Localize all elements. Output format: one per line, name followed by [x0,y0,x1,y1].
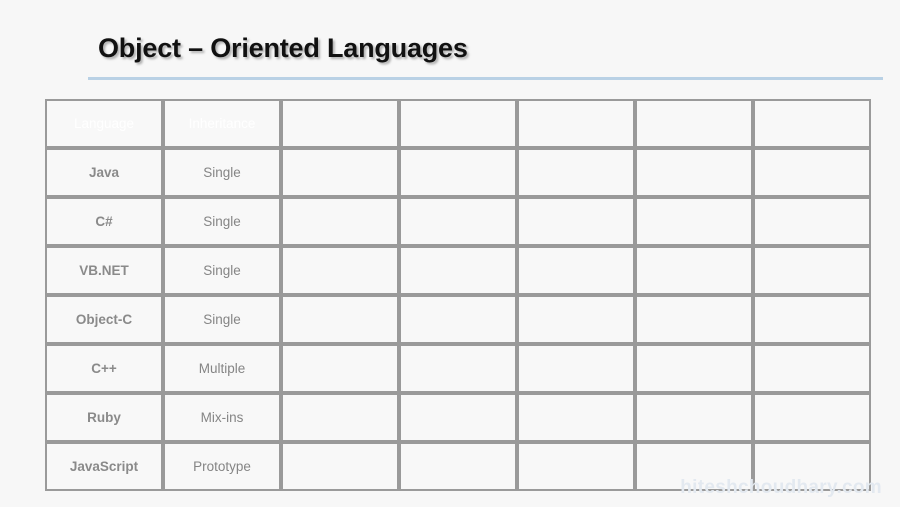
cell-empty-4 [399,344,517,393]
cell-empty-5 [517,148,635,197]
cell-empty-5 [517,295,635,344]
cell-empty-4 [399,148,517,197]
column-header-language: Language [45,99,163,148]
cell-language: Ruby [45,393,163,442]
cell-inheritance: Single [163,197,281,246]
column-header-empty-6 [635,99,753,148]
cell-empty-5 [517,393,635,442]
cell-empty-6 [635,246,753,295]
cell-empty-4 [399,442,517,491]
table-row: Ruby Mix-ins [45,393,871,442]
cell-empty-7 [753,246,871,295]
cell-empty-7 [753,148,871,197]
cell-empty-3 [281,393,399,442]
table-header-row: Language Inheritance [45,99,871,148]
cell-empty-3 [281,344,399,393]
cell-empty-6 [635,197,753,246]
cell-empty-7 [753,393,871,442]
cell-inheritance: Mix-ins [163,393,281,442]
cell-inheritance: Single [163,148,281,197]
site-watermark: hiteshchoudhary.com [680,477,882,499]
cell-empty-6 [635,344,753,393]
cell-language: Object-C [45,295,163,344]
column-header-empty-5 [517,99,635,148]
cell-empty-7 [753,295,871,344]
cell-empty-6 [635,148,753,197]
cell-language: C# [45,197,163,246]
cell-language: JavaScript [45,442,163,491]
cell-language: Java [45,148,163,197]
oop-languages-table: Language Inheritance Java Single [45,99,871,491]
cell-empty-5 [517,442,635,491]
oop-languages-table-container: Language Inheritance Java Single [45,99,870,465]
cell-empty-4 [399,246,517,295]
cell-empty-7 [753,197,871,246]
cell-empty-3 [281,148,399,197]
cell-inheritance: Single [163,246,281,295]
cell-language: VB.NET [45,246,163,295]
cell-language: C++ [45,344,163,393]
cell-empty-4 [399,295,517,344]
table-row: C++ Multiple [45,344,871,393]
cell-empty-4 [399,393,517,442]
column-header-empty-3 [281,99,399,148]
cell-empty-3 [281,442,399,491]
column-header-empty-4 [399,99,517,148]
cell-empty-7 [753,344,871,393]
title-underline-rule [88,77,883,80]
slide-canvas: Object – Oriented Languages Language Inh… [0,0,900,507]
table-row: VB.NET Single [45,246,871,295]
cell-inheritance: Prototype [163,442,281,491]
page-title: Object – Oriented Languages [98,33,468,64]
cell-empty-3 [281,246,399,295]
cell-empty-4 [399,197,517,246]
cell-inheritance: Single [163,295,281,344]
table-row: C# Single [45,197,871,246]
cell-empty-3 [281,295,399,344]
cell-inheritance: Multiple [163,344,281,393]
cell-empty-5 [517,197,635,246]
column-header-empty-7 [753,99,871,148]
cell-empty-5 [517,246,635,295]
cell-empty-3 [281,197,399,246]
column-header-inheritance: Inheritance [163,99,281,148]
table-row: Java Single [45,148,871,197]
cell-empty-6 [635,393,753,442]
table-row: Object-C Single [45,295,871,344]
cell-empty-5 [517,344,635,393]
cell-empty-6 [635,295,753,344]
